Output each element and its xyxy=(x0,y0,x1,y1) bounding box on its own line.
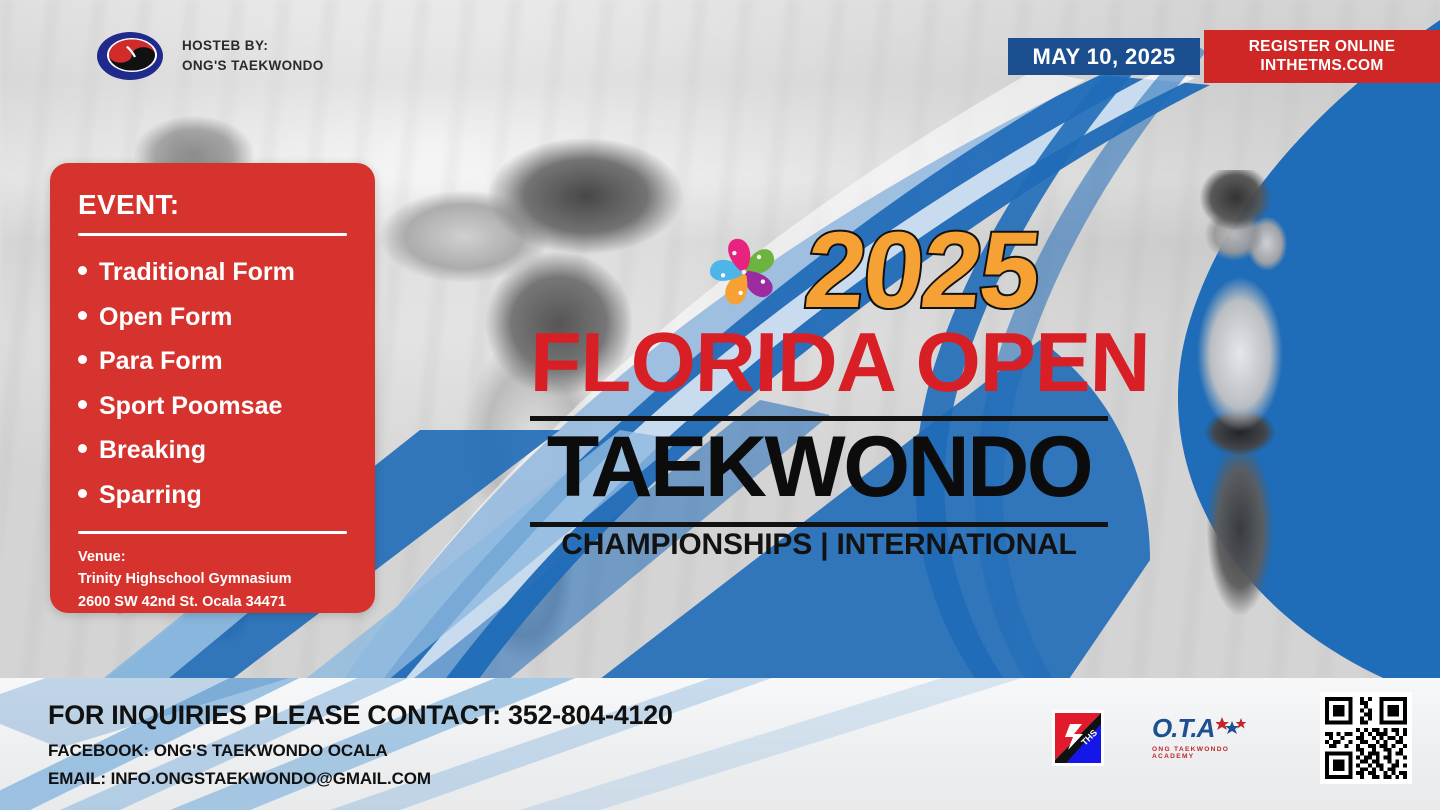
qr-code-icon[interactable] xyxy=(1320,692,1412,784)
trinity-highschool-logo-icon: THS xyxy=(1052,710,1104,766)
event-card: EVENT: Traditional Form Open Form Para F… xyxy=(50,163,375,613)
event-list: Traditional Form Open Form Para Form Spo… xyxy=(78,250,347,517)
event-item-label: Para Form xyxy=(99,339,223,384)
venue-name: Trinity Highschool Gymnasium xyxy=(78,568,347,590)
venue-block: Venue: Trinity Highschool Gymnasium 2600… xyxy=(78,546,347,613)
year-heading: 2025 xyxy=(800,216,1044,324)
event-item-label: Traditional Form xyxy=(99,250,295,295)
event-item-label: Sparring xyxy=(99,473,202,518)
event-card-title: EVENT: xyxy=(78,189,347,221)
taekwondo-master-poomsae-photo xyxy=(1168,170,1318,630)
ota-logo-main: O.T.A xyxy=(1152,715,1214,741)
bullet-icon xyxy=(78,444,87,453)
footer-contact-block: FOR INQUIRIES PLEASE CONTACT: 352-804-41… xyxy=(48,700,673,789)
event-item-label: Open Form xyxy=(99,295,232,340)
host-block: HOSTEB BY: ONG'S TAEKWONDO xyxy=(96,30,324,82)
footer-logos: THS O.T.A ONG TAEKWONDO ACADEMY xyxy=(1052,692,1412,784)
venue-address: 2600 SW 42nd St. Ocala 34471 xyxy=(78,591,347,613)
list-item: Breaking xyxy=(78,428,347,473)
event-item-label: Breaking xyxy=(99,428,206,473)
register-online-badge[interactable]: REGISTER ONLINE INTHETMS.COM xyxy=(1204,30,1440,83)
ong-circle-logo-icon xyxy=(96,30,164,82)
venue-label: Venue: xyxy=(78,546,347,568)
multicolor-pinwheel-logo-icon xyxy=(704,232,784,312)
host-name: ONG'S TAEKWONDO xyxy=(182,56,324,76)
list-item: Traditional Form xyxy=(78,250,347,295)
register-line2: INTHETMS.COM xyxy=(1260,57,1383,76)
contact-email-line: EMAIL: INFO.ONGSTAEKWONDO@GMAIL.COM xyxy=(48,769,673,789)
bullet-icon xyxy=(78,489,87,498)
list-item: Open Form xyxy=(78,295,347,340)
contact-phone-line: FOR INQUIRIES PLEASE CONTACT: 352-804-41… xyxy=(48,700,673,731)
bullet-icon xyxy=(78,400,87,409)
register-line1: REGISTER ONLINE xyxy=(1249,38,1396,57)
event-date-badge: MAY 10, 2025 xyxy=(1008,38,1200,75)
bullet-icon xyxy=(78,311,87,320)
ota-logo-sub: ONG TAEKWONDO ACADEMY xyxy=(1152,746,1272,760)
title-subtitle: CHAMPIONSHIPS | INTERNATIONAL xyxy=(530,528,1108,562)
list-item: Sport Poomsae xyxy=(78,384,347,429)
list-item: Sparring xyxy=(78,473,347,518)
event-card-divider-bottom xyxy=(78,531,347,534)
title-line-taekwondo: TAEKWONDO xyxy=(530,424,1108,510)
ong-taekwondo-academy-logo-icon: O.T.A ONG TAEKWONDO ACADEMY xyxy=(1152,715,1272,761)
stars-icon xyxy=(1216,715,1246,743)
event-poster: HOSTEB BY: ONG'S TAEKWONDO MAY 10, 2025 … xyxy=(0,0,1440,810)
event-item-label: Sport Poomsae xyxy=(99,384,282,429)
footer: FOR INQUIRIES PLEASE CONTACT: 352-804-41… xyxy=(0,678,1440,810)
title-line-florida-open: FLORIDA OPEN xyxy=(529,324,1108,401)
list-item: Para Form xyxy=(78,339,347,384)
host-label: HOSTEB BY: xyxy=(182,36,324,56)
title-rule-bottom xyxy=(530,522,1108,527)
bullet-icon xyxy=(78,266,87,275)
contact-facebook-line: FACEBOOK: ONG'S TAEKWONDO OCALA xyxy=(48,741,673,761)
host-text: HOSTEB BY: ONG'S TAEKWONDO xyxy=(182,36,324,75)
event-card-divider-top xyxy=(78,233,347,236)
bullet-icon xyxy=(78,355,87,364)
